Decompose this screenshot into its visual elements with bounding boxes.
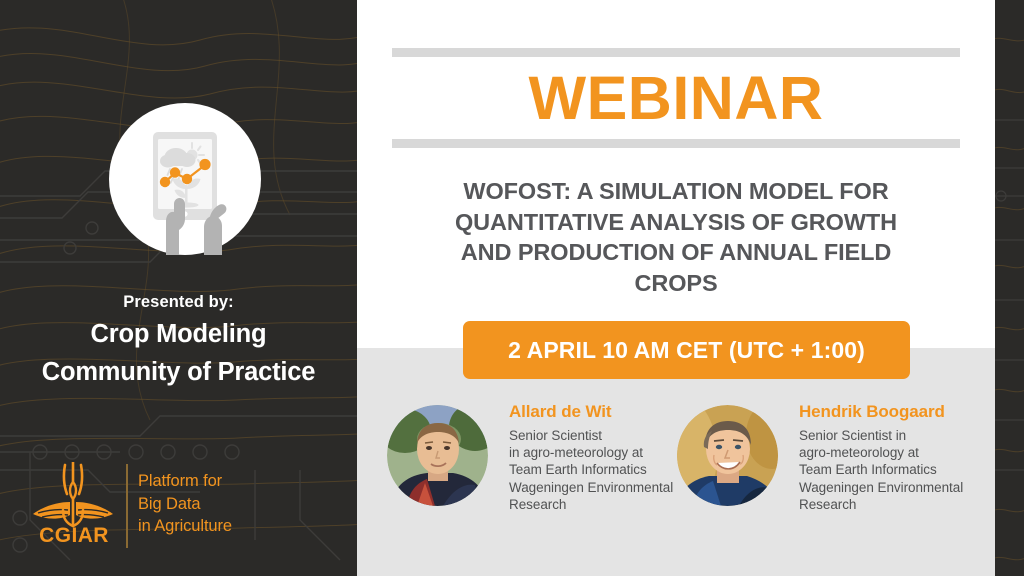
- main-content-area: WEBINAR WOFOST: A SIMULATION MODEL FOR Q…: [357, 0, 995, 576]
- speaker-photo-allard-de-wit: [387, 405, 488, 506]
- date-time-banner: 2 APRIL 10 AM CET (UTC + 1:00): [463, 321, 910, 379]
- speaker-bio: Senior Scientist in agro-meteorology at …: [799, 427, 963, 513]
- eyebrow-rule-top: [392, 48, 960, 57]
- speaker-card: Hendrik Boogaard Senior Scientist in agr…: [677, 402, 987, 542]
- bio-line-4: Wageningen Environmental: [799, 479, 963, 496]
- bio-line-4: Wageningen Environmental: [509, 479, 673, 496]
- tagline-line-2: Big Data: [138, 493, 232, 516]
- left-branding-panel: Presented by: Crop Modeling Community of…: [0, 0, 357, 576]
- organization-line-2: Community of Practice: [0, 353, 357, 391]
- speaker-info: Hendrik Boogaard Senior Scientist in agr…: [799, 402, 963, 513]
- title-line-4: CROPS: [387, 268, 965, 299]
- bio-line-5: Research: [799, 496, 963, 513]
- webinar-title: WOFOST: A SIMULATION MODEL FOR QUANTITAT…: [387, 176, 965, 298]
- bio-line-2: agro-meteorology at: [799, 444, 963, 461]
- title-line-2: QUANTITATIVE ANALYSIS OF GROWTH: [387, 207, 965, 238]
- eyebrow-rule-bottom: [392, 139, 960, 148]
- speaker-info: Allard de Wit Senior Scientist in agro-m…: [509, 402, 673, 513]
- organization-name: Crop Modeling Community of Practice: [0, 315, 357, 391]
- cgiar-wheat-emblem-icon: [30, 462, 116, 528]
- platform-tagline: Platform for Big Data in Agriculture: [138, 470, 232, 538]
- bio-line-1: Senior Scientist in: [799, 427, 963, 444]
- title-line-3: AND PRODUCTION OF ANNUAL FIELD: [387, 237, 965, 268]
- cgiar-logo-lockup: CGIAR Platform for Big Data in Agricultu…: [30, 462, 260, 552]
- speaker-photo-hendrik-boogaard: [677, 405, 778, 506]
- bio-line-2: in agro-meteorology at: [509, 444, 673, 461]
- bio-line-5: Research: [509, 496, 673, 513]
- speaker-bio: Senior Scientist in agro-meteorology at …: [509, 427, 673, 513]
- bio-line-3: Team Earth Informatics: [509, 461, 673, 478]
- bio-line-1: Senior Scientist: [509, 427, 673, 444]
- right-strip-texture: [995, 0, 1024, 576]
- right-edge-strip: [995, 0, 1024, 576]
- cgiar-wordmark: CGIAR: [30, 524, 118, 548]
- speaker-name: Hendrik Boogaard: [799, 402, 963, 422]
- speaker-name: Allard de Wit: [509, 402, 673, 422]
- tagline-line-1: Platform for: [138, 470, 232, 493]
- bio-line-3: Team Earth Informatics: [799, 461, 963, 478]
- tagline-line-3: in Agriculture: [138, 515, 232, 538]
- presented-by-label: Presented by:: [0, 293, 357, 312]
- organization-line-1: Crop Modeling: [0, 315, 357, 353]
- title-line-1: WOFOST: A SIMULATION MODEL FOR: [387, 176, 965, 207]
- logo-divider: [126, 464, 128, 548]
- tablet-crop-analytics-icon: [109, 103, 261, 255]
- speaker-card: Allard de Wit Senior Scientist in agro-m…: [387, 402, 692, 542]
- eyebrow-webinar: WEBINAR: [357, 63, 995, 133]
- webinar-poster: Presented by: Crop Modeling Community of…: [0, 0, 1024, 576]
